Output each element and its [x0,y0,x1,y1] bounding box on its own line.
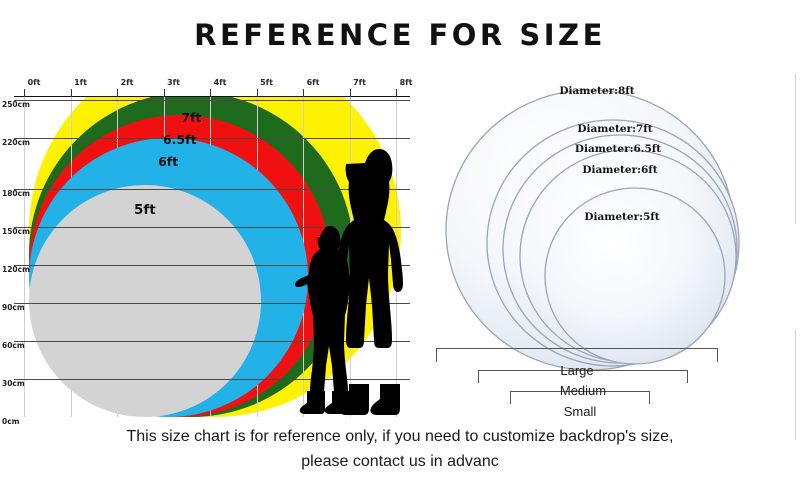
right-edge-mark-top [795,74,796,224]
disc-label-3: Diameter:6ft [582,164,657,176]
disc-label-4: Diameter:5ft [584,211,659,223]
y-label-30cm: 30cm [2,379,25,388]
bracket-label-medium: Medium [560,383,606,398]
y-label-90cm: 90cm [2,303,25,312]
ring-label-5ft: 5ft [134,202,156,218]
ruler-tick-2ft [117,89,118,97]
y-label-120cm: 120cm [2,265,30,274]
y-label-220cm: 220cm [2,138,30,147]
ruler-label-0ft: 0ft [28,78,41,87]
footer-line-1: This size chart is for reference only, i… [30,424,770,449]
ruler-tick-3ft [164,89,165,97]
ring-5ft [29,185,262,418]
bracket-label-small: Small [564,404,597,419]
people-silhouettes [287,141,407,417]
y-label-180cm: 180cm [2,189,30,198]
ruler-tick-6ft [303,89,304,97]
page-title: REFERENCE FOR SIZE [0,18,800,52]
y-label-0cm: 0cm [2,417,19,426]
ruler-tick-7ft [350,89,351,97]
disc-label-1: Diameter:7ft [577,123,652,135]
ruler-label-8ft: 8ft [400,78,413,87]
disc-label-2: Diameter:6.5ft [575,143,661,155]
ruler-tick-1ft [71,89,72,97]
ruler-label-2ft: 2ft [121,78,134,87]
left-reference-chart: 0ft1ft2ft3ft4ft5ft6ft7ft8ft [0,74,430,429]
ruler-tick-4ft [210,89,211,97]
hgrid-220cm [14,138,410,139]
right-disc-chart: Diameter:8ftDiameter:7ftDiameter:6.5ftDi… [430,60,800,430]
y-label-150cm: 150cm [2,227,30,236]
ruler-tick-8ft [396,89,397,97]
ruler-label-5ft: 5ft [260,78,273,87]
y-label-60cm: 60cm [2,341,25,350]
ruler-tick-5ft [257,89,258,97]
y-label-250cm: 250cm [2,100,30,109]
disc-label-0: Diameter:8ft [559,85,634,97]
hgrid-250cm [14,100,410,101]
ring-label-7ft: 7ft [181,110,201,125]
ring-label-6.5ft: 6.5ft [163,132,197,147]
ring-label-6ft: 6ft [158,154,178,169]
ruler-label-6ft: 6ft [307,78,320,87]
footer-line-2: please contact us in advanc [30,449,770,474]
measurement-plot: 8ft7ft6.5ft6ft5ft [14,97,410,417]
ruler-label-3ft: 3ft [167,78,180,87]
bracket-label-large: Large [560,363,593,378]
size-chart-page: REFERENCE FOR SIZE 0ft1ft2ft3ft4ft5ft6ft… [0,0,800,488]
bracket-large [436,348,718,362]
ruler-tick-0ft [24,89,25,97]
footer-note: This size chart is for reference only, i… [0,424,800,474]
ruler-label-7ft: 7ft [353,78,366,87]
ruler-label-1ft: 1ft [74,78,87,87]
right-edge-mark-bottom [795,330,796,440]
ruler-label-4ft: 4ft [214,78,227,87]
